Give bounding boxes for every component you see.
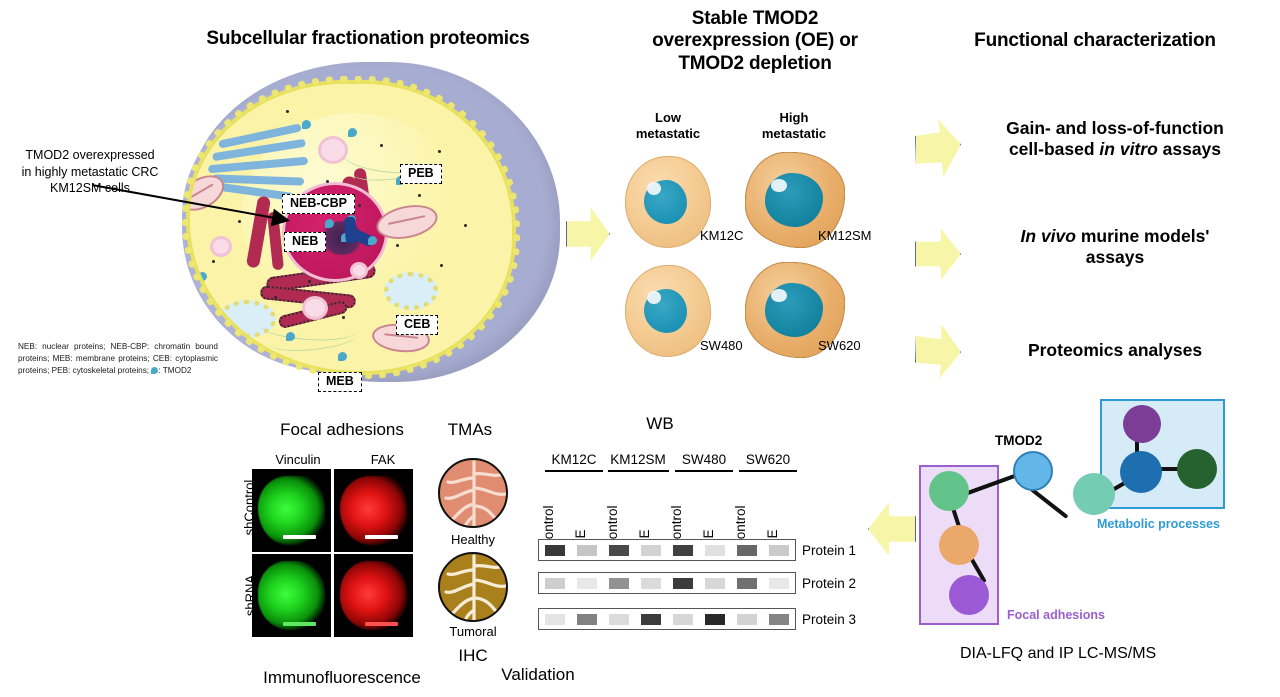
wb-band: [705, 614, 725, 625]
fraction-label-meb: MEB: [318, 372, 362, 392]
flow-arrow-in-vitro: [915, 118, 961, 178]
wb-band: [545, 614, 565, 625]
network-node-focal-1: [929, 471, 969, 511]
wb-blot-row-protein-3: [538, 608, 796, 630]
wb-band: [577, 578, 597, 589]
if-section-title: Focal adhesions: [262, 420, 422, 440]
network-node-focal-3: [949, 575, 989, 615]
fraction-label-peb: PEB: [400, 164, 442, 184]
flow-arrow-proteomics: [915, 322, 961, 380]
wb-band: [705, 578, 725, 589]
cellline-header-low-metastatic: Low metastatic: [622, 110, 714, 141]
page-title-right: Functional characterization: [930, 30, 1260, 52]
wb-band: [737, 614, 757, 625]
cell-label-sw480: SW480: [700, 338, 743, 353]
wb-band: [545, 578, 565, 589]
network-node-metabolic-top: [1123, 405, 1161, 443]
network-box-label-focal-adhesions: Focal adhesions: [1007, 608, 1105, 622]
network-node-metabolic-hub: [1120, 451, 1162, 493]
wb-band: [673, 545, 693, 556]
wb-band: [769, 545, 789, 556]
wb-blot-row-protein-1: [538, 539, 796, 561]
cell-nucleolus: [647, 291, 661, 304]
if-image-shrna-vinculin: [252, 554, 331, 637]
cell-sw480: [625, 265, 711, 357]
tma-section-title: TMAs: [425, 420, 515, 440]
page-title-middle-line3: TMOD2 depletion: [615, 53, 895, 75]
scale-bar: [283, 535, 316, 539]
tma-stroma-pattern: [440, 460, 508, 528]
if-image-shrna-fak: [334, 554, 413, 637]
functional-item3: Proteomics analyses: [965, 340, 1265, 361]
if-image-shcontrol-fak: [334, 469, 413, 552]
wb-group-header-km12sm: KM12SM: [604, 452, 672, 467]
wb-band: [577, 614, 597, 625]
fraction-legend-tail: : TMOD2: [158, 366, 191, 375]
network-box-label-metabolic-processes: Metabolic processes: [1097, 517, 1220, 531]
if-signal: [258, 561, 324, 631]
annotation-pointer-arrow: [90, 180, 310, 230]
wb-group-header-sw620: SW620: [737, 452, 799, 467]
scale-bar: [365, 622, 398, 626]
functional-item-in-vivo-assays: In vivo murine models' assays: [965, 226, 1265, 269]
scale-bar: [283, 622, 316, 626]
tma-image-healthy: [438, 458, 508, 528]
tmod2-annotation-line1: TMOD2 overexpressed: [10, 147, 170, 164]
if-col-header-vinculin: Vinculin: [258, 452, 338, 467]
wb-band: [769, 578, 789, 589]
tma-stroma-pattern: [440, 554, 508, 622]
if-caption-immunofluorescence: Immunofluorescence: [252, 668, 432, 688]
wb-group-header-km12c: KM12C: [543, 452, 605, 467]
wb-blot-row-protein-2: [538, 572, 796, 594]
functional-item1-line2-a: cell-based: [1009, 139, 1099, 159]
cell-label-km12sm: KM12SM: [818, 228, 871, 243]
network-node-focal-2: [939, 525, 979, 565]
cell-nucleolus: [647, 182, 661, 195]
wb-band: [705, 545, 725, 556]
if-signal: [340, 561, 406, 631]
functional-item2-line2: assays: [965, 247, 1265, 268]
fraction-label-ceb: CEB: [396, 315, 438, 335]
high-metastatic-line1: High: [748, 110, 840, 126]
network-node-metabolic-right: [1177, 449, 1217, 489]
wb-band: [545, 545, 565, 556]
network-caption: DIA-LFQ and IP LC-MS/MS: [960, 645, 1156, 663]
network-node-label-tmod2: TMOD2: [995, 433, 1042, 448]
wb-group-rule: [739, 470, 797, 472]
wb-band: [609, 578, 629, 589]
wb-protein-label-1: Protein 1: [802, 543, 856, 558]
wb-band: [609, 614, 629, 625]
low-metastatic-line2: metastatic: [622, 126, 714, 142]
flow-arrow-to-wb: [868, 500, 916, 558]
tma-label-tumoral: Tumoral: [428, 624, 518, 639]
network-diagram: TMOD2 Focal adhesions Metabolic processe…: [915, 395, 1280, 645]
if-col-header-fak: FAK: [343, 452, 423, 467]
wb-band: [769, 614, 789, 625]
functional-item1-line1: Gain- and loss-of-function: [965, 118, 1265, 139]
cell-km12c: [625, 156, 711, 248]
page-title-middle-line1: Stable TMOD2: [615, 8, 895, 30]
functional-item2-line1-italic: In vivo: [1021, 226, 1076, 246]
wb-protein-label-2: Protein 2: [802, 576, 856, 591]
cell-label-km12c: KM12C: [700, 228, 743, 243]
functional-item1-line2-b: assays: [1158, 139, 1221, 159]
wb-group-rule: [608, 470, 669, 472]
wb-band: [577, 545, 597, 556]
page-title-middle-line2: overexpression (OE) or: [615, 30, 895, 52]
wb-band: [673, 578, 693, 589]
fraction-legend-note: NEB: nuclear proteins; NEB-CBP: chromati…: [18, 341, 218, 377]
wb-group-rule: [545, 470, 603, 472]
flow-arrow-in-vivo: [915, 226, 961, 282]
high-metastatic-line2: metastatic: [748, 126, 840, 142]
wb-band: [737, 578, 757, 589]
wb-band: [641, 614, 661, 625]
page-title-left: Subcellular fractionation proteomics: [178, 28, 558, 50]
functional-item2-line1-b: murine models': [1076, 226, 1210, 246]
wb-band: [641, 545, 661, 556]
wb-band: [673, 614, 693, 625]
page-title-middle: Stable TMOD2 overexpression (OE) or TMOD…: [615, 8, 895, 75]
tma-image-tumoral: [438, 552, 508, 622]
wb-band: [737, 545, 757, 556]
fraction-label-neb: NEB: [284, 232, 326, 252]
if-image-shcontrol-vinculin: [252, 469, 331, 552]
cellline-header-high-metastatic: High metastatic: [748, 110, 840, 141]
functional-item1-line2-italic: in vitro: [1099, 139, 1157, 159]
tma-caption-ihc: IHC: [428, 646, 518, 666]
wb-band: [609, 545, 629, 556]
cell-label-sw620: SW620: [818, 338, 861, 353]
scale-bar: [365, 535, 398, 539]
validation-caption: Validation: [448, 665, 628, 685]
functional-item-proteomics-analyses: Proteomics analyses: [965, 340, 1265, 361]
wb-group-header-sw480: SW480: [673, 452, 735, 467]
network-edge: [1030, 487, 1069, 518]
wb-group-rule: [675, 470, 733, 472]
tma-label-healthy: Healthy: [428, 532, 518, 547]
network-node-tmod2: [1013, 451, 1053, 491]
network-node-bridge: [1073, 473, 1115, 515]
wb-protein-label-3: Protein 3: [802, 612, 856, 627]
wb-band: [641, 578, 661, 589]
wb-section-title: WB: [620, 414, 700, 434]
tmod2-annotation-line2: in highly metastatic CRC: [10, 164, 170, 181]
functional-item-in-vitro-assays: Gain- and loss-of-function cell-based in…: [965, 118, 1265, 161]
low-metastatic-line1: Low: [622, 110, 714, 126]
